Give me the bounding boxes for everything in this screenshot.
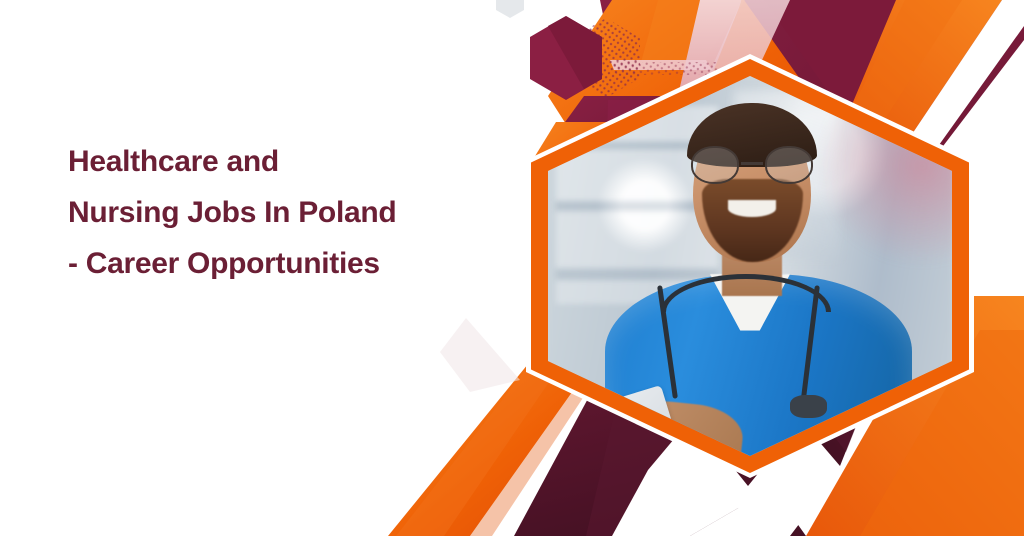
photo-smile [728,200,776,217]
headline-line-2: Nursing Jobs In Poland [68,187,488,238]
headline-line-1: Healthcare and [68,136,488,187]
headline-line-3: - Career Opportunities [68,238,488,289]
glasses-icon [689,146,814,184]
photo-hand [572,434,654,456]
photo-hexagon [526,54,974,478]
stethoscope-bell [790,395,826,418]
headline: Healthcare and Nursing Jobs In Poland - … [68,136,488,289]
banner: Healthcare and Nursing Jobs In Poland - … [0,0,1024,536]
